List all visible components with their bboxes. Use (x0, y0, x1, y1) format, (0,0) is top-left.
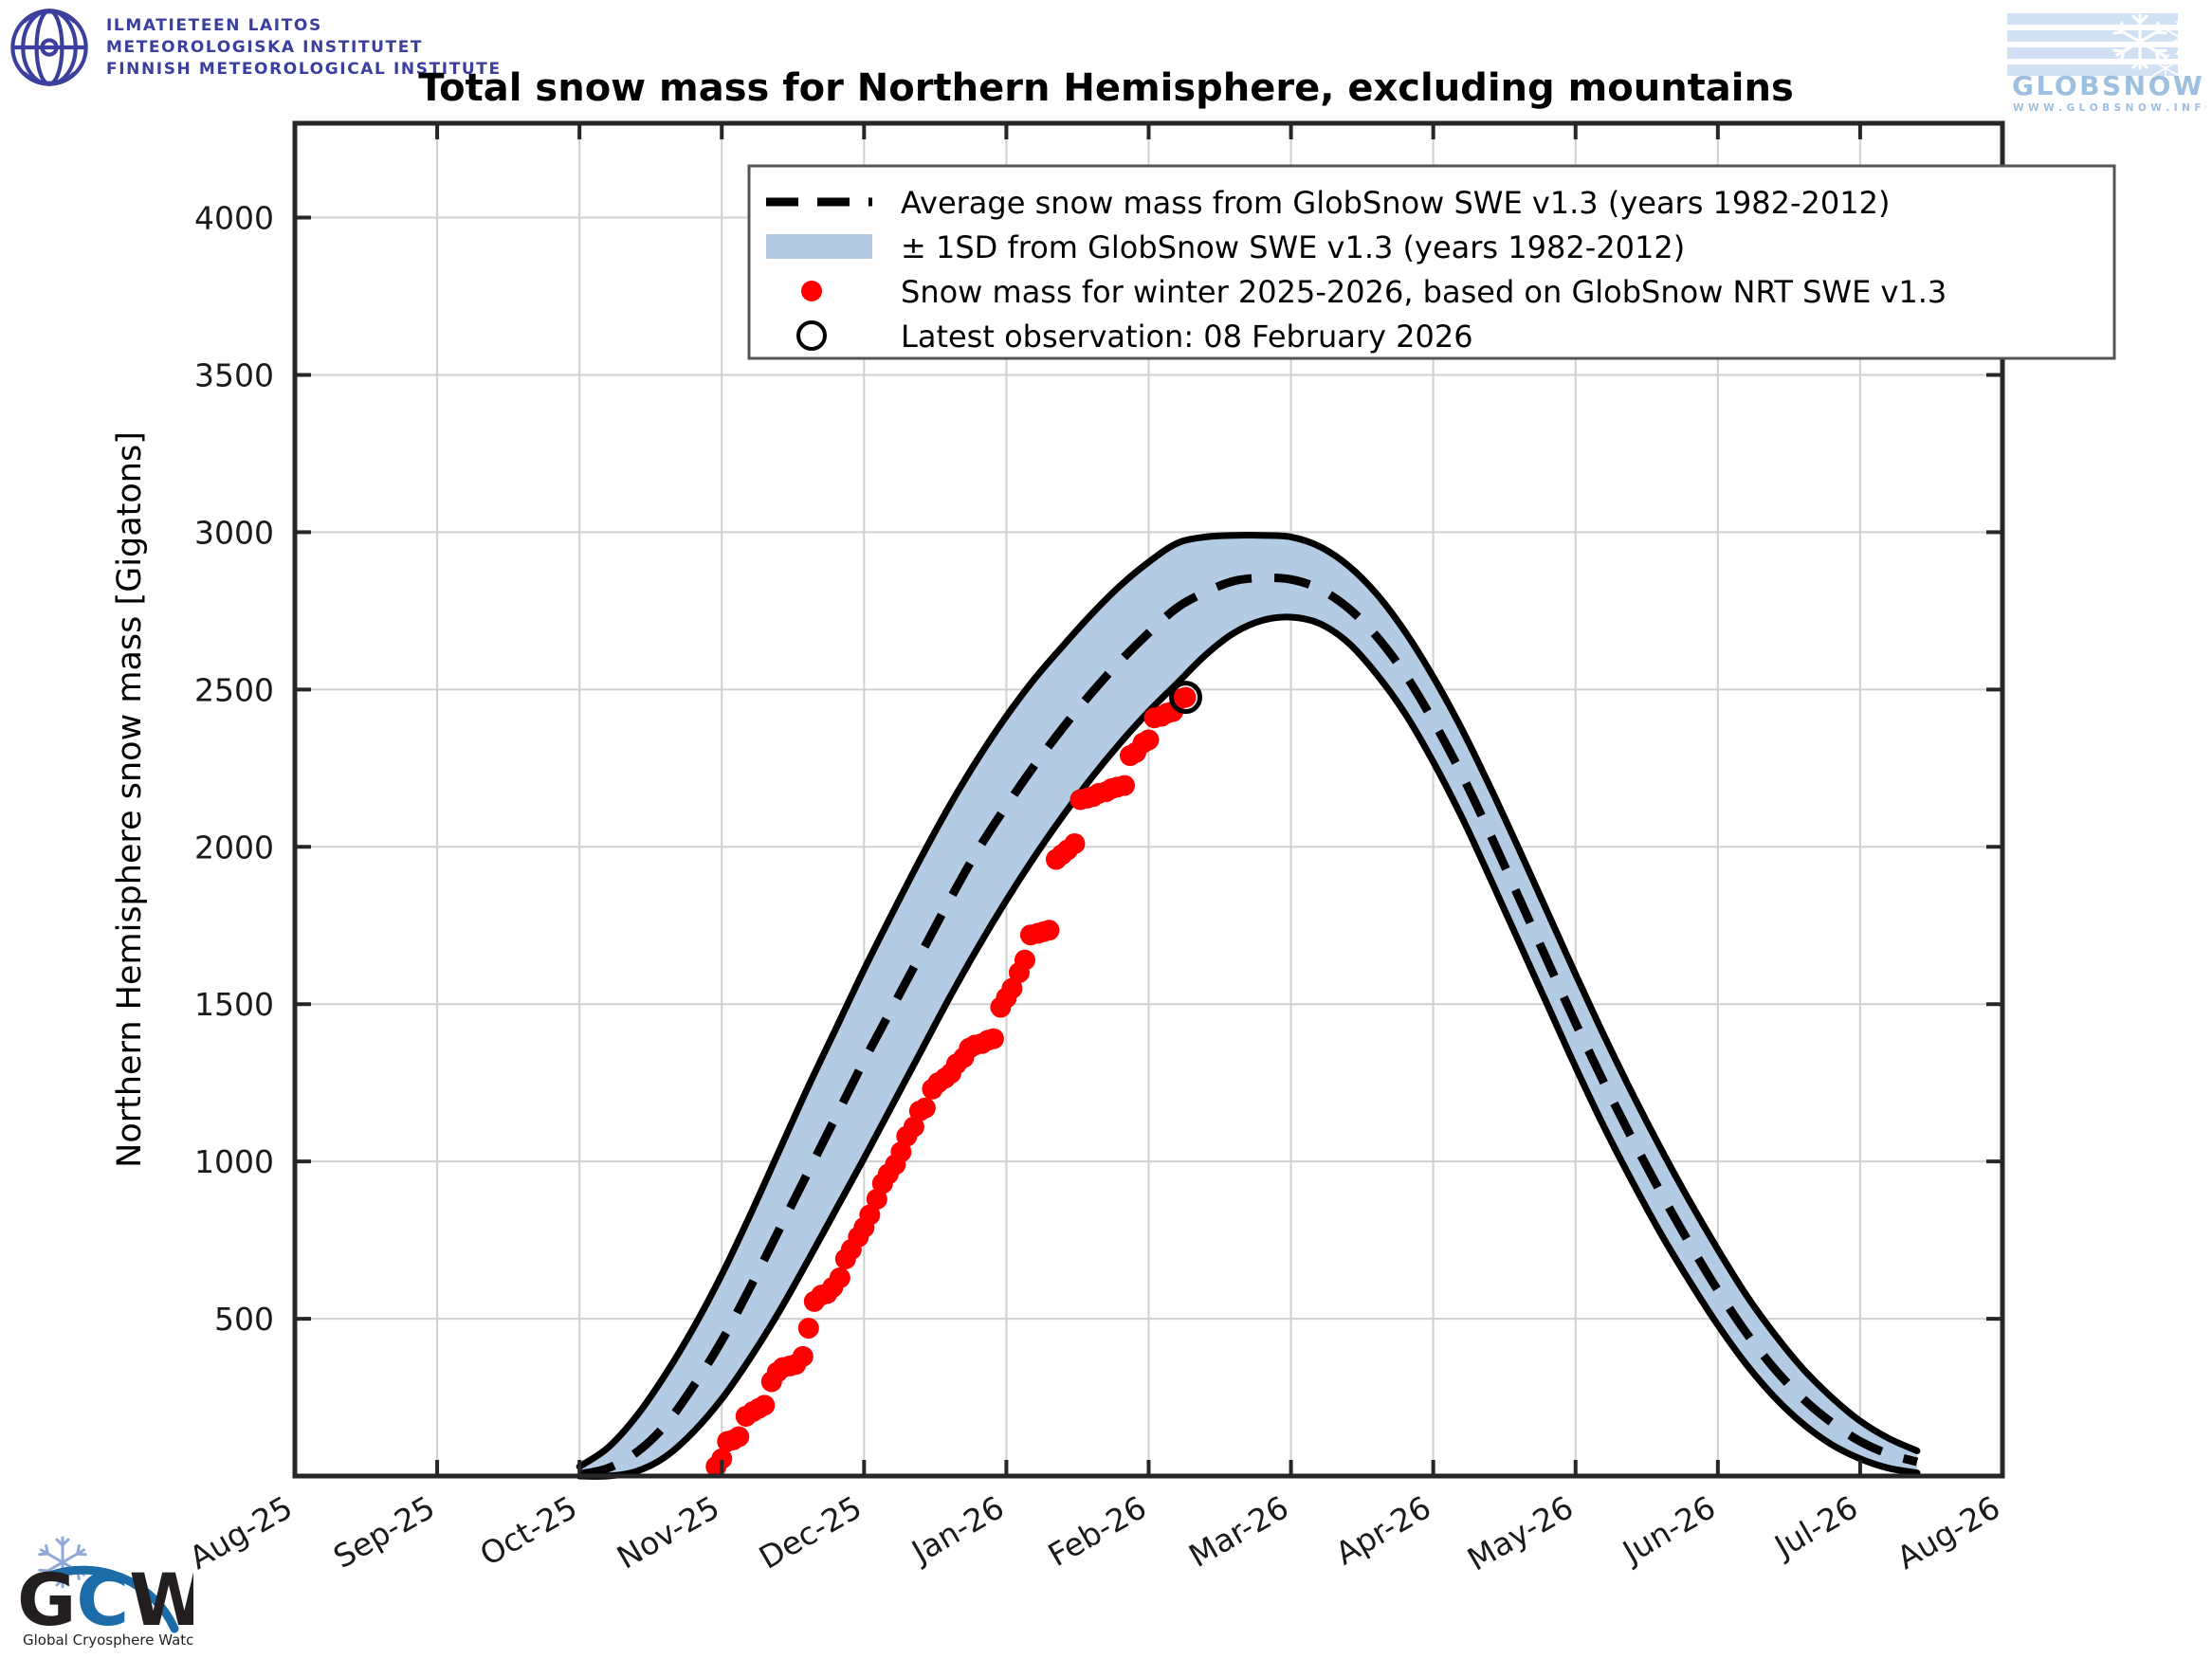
observation-dot (1114, 775, 1135, 796)
x-tick-label: Apr-26 (1329, 1488, 1437, 1572)
average-dashed-line (579, 577, 1917, 1474)
observation-dot (728, 1427, 749, 1448)
legend-red-dot-icon (801, 281, 822, 301)
legend-band-swatch-icon (766, 234, 872, 259)
observation-dot (983, 1029, 1004, 1049)
legend-entry-label: Snow mass for winter 2025-2026, based on… (901, 274, 1947, 310)
y-tick-label: 3500 (194, 356, 274, 393)
y-tick-label: 4000 (194, 200, 274, 237)
x-tick-label: May-26 (1461, 1488, 1580, 1578)
x-tick-label: Jan-26 (904, 1488, 1010, 1571)
y-tick-label: 500 (214, 1301, 274, 1338)
observation-dot (1015, 950, 1035, 971)
y-tick-label: 2000 (194, 829, 274, 866)
observation-dot (1038, 920, 1059, 940)
x-tick-label: Aug-25 (183, 1488, 299, 1577)
y-tick-label: 2500 (194, 671, 274, 708)
x-tick-label: Oct-25 (474, 1488, 584, 1573)
legend-entry-label: Average snow mass from GlobSnow SWE v1.3… (901, 185, 1890, 221)
observation-dot (793, 1346, 814, 1367)
x-tick-label: Aug-26 (1891, 1488, 2006, 1577)
legend-entry-label: ± 1SD from GlobSnow SWE v1.3 (years 1982… (901, 229, 1685, 265)
x-tick-label: Dec-25 (753, 1488, 868, 1577)
observation-dot (915, 1098, 936, 1119)
observation-dot (1139, 729, 1160, 750)
observation-dot (754, 1395, 775, 1415)
observation-dot (830, 1267, 850, 1288)
x-tick-label: Mar-26 (1182, 1488, 1294, 1575)
average-line (579, 577, 1917, 1474)
x-tick-label: Sep-25 (327, 1488, 441, 1576)
snow-mass-chart: Aug-25Sep-25Oct-25Nov-25Dec-25Jan-26Feb-… (0, 0, 2212, 1659)
y-tick-label: 3000 (194, 514, 274, 551)
sd-band (579, 536, 1917, 1477)
x-tick-label: Feb-26 (1042, 1488, 1153, 1574)
legend-entry-label: Latest observation: 08 February 2026 (901, 319, 1473, 355)
y-axis-title-text: Northern Hemisphere snow mass [Gigatons] (111, 431, 149, 1168)
observation-dot (798, 1318, 819, 1339)
y-tick-label: 1000 (194, 1143, 274, 1180)
sd-band-lower-edge (579, 617, 1917, 1476)
y-tick-label: 1500 (194, 986, 274, 1023)
sd-band-fill (579, 536, 1917, 1477)
x-tick-label: Nov-25 (611, 1488, 725, 1576)
y-axis-title: Northern Hemisphere snow mass [Gigatons] (111, 431, 149, 1168)
chart-legend: Average snow mass from GlobSnow SWE v1.3… (749, 166, 2114, 358)
x-tick-label: Jun-26 (1615, 1488, 1722, 1572)
observation-dot (1176, 687, 1197, 708)
observation-dot (1064, 833, 1085, 854)
x-tick-label: Jul-26 (1767, 1488, 1864, 1566)
